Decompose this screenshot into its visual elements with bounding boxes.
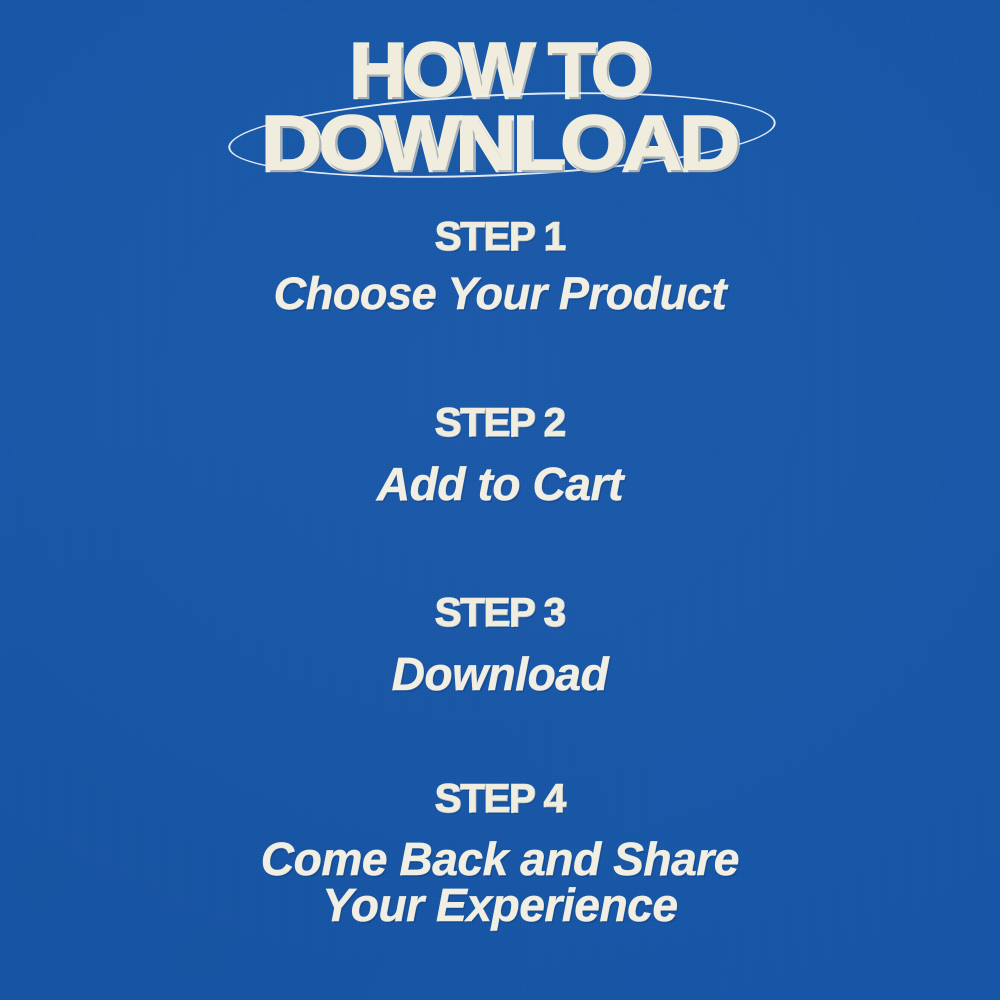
how-to-download-poster: HOW TO DOWNLOAD STEP 1 Choose Your Produ… [0,0,1000,1000]
step-label: STEP 4 [0,778,1000,820]
step-description: Download [0,650,1000,699]
list-item: STEP 1 Choose Your Product [0,216,1000,318]
list-item: STEP 2 Add to Cart [0,402,1000,509]
step-description: Come Back and Share Your Experience [0,836,1000,928]
step-label: STEP 1 [0,216,1000,258]
page-title-line-2-wrapper: DOWNLOAD [0,109,1000,180]
list-item: STEP 4 Come Back and Share Your Experien… [0,778,1000,928]
step-description: Add to Cart [0,460,1000,509]
step-label: STEP 2 [0,402,1000,444]
page-title-line-2: DOWNLOAD [0,109,1000,180]
step-label: STEP 3 [0,592,1000,634]
list-item: STEP 3 Download [0,592,1000,699]
step-description: Choose Your Product [0,270,1000,318]
